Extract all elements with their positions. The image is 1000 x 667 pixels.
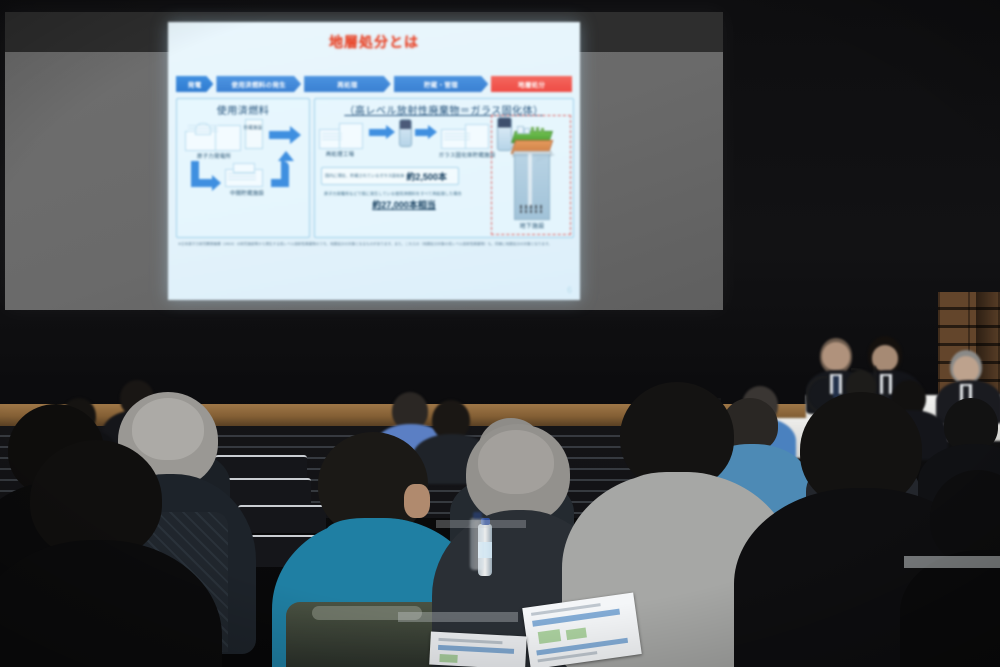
- quantity-note-1: 国内に現在、貯蔵されているガラス固化体: [325, 173, 404, 178]
- caption-interim-storage-facility: 中間貯蔵施設: [217, 189, 277, 197]
- slide-page-number: 6: [567, 285, 572, 295]
- quantity-box-current-stock: 国内に現在、貯蔵されているガラス固化体 約2,500本: [321, 167, 459, 185]
- process-step-power-generation: 発電: [176, 76, 213, 92]
- quantity-value-1: 約2,500本: [406, 170, 447, 183]
- arrow-head-mid2: [428, 125, 437, 139]
- arrow-down-left-foot: [191, 179, 213, 187]
- process-step-reprocessing: 再処理: [304, 76, 391, 92]
- audience-desk: [904, 556, 1000, 568]
- arrow-head-top: [290, 126, 301, 144]
- reprocessing-plant-illustration: [319, 121, 363, 149]
- arrow-head-up-right: [278, 151, 294, 161]
- audience-desk: [398, 612, 518, 622]
- slide-footnote: ※日本原子力研究開発機構（JAEA）の研究施設等から発生する低レベル放射性廃棄物…: [178, 242, 570, 247]
- bottle-cap: [473, 512, 482, 519]
- vitrified-waste-storage-facility-illustration: [441, 121, 489, 149]
- arrow-right-mid2: [415, 129, 429, 136]
- process-step-storage-management: 貯蔵・管理: [394, 76, 489, 92]
- caption-underground-facility: 地下施設: [501, 221, 563, 230]
- left-panel-heading: 使用済燃料: [177, 102, 309, 117]
- vitrified-waste-canister-1: [399, 119, 412, 147]
- arrow-right-top: [269, 131, 291, 139]
- slide-left-panel: 使用済燃料 原子力発電所 貯蔵施設: [176, 98, 310, 238]
- handout-paper: [429, 632, 527, 667]
- interim-storage-facility-illustration: [225, 161, 267, 187]
- quantity-note-2: 原子力発電所などで既に発生している使用済燃料をすべて再処理した場合: [324, 191, 462, 196]
- caption-reprocessing-plant: 再処理工場: [309, 150, 371, 158]
- underground-facility-illustration: [511, 125, 551, 221]
- process-step-spent-fuel: 使用済燃料の発生: [216, 76, 301, 92]
- caption-storage-facility: 貯蔵施設: [239, 125, 267, 131]
- slide-right-panel: （高レベル放射性廃棄物＝ガラス固化体） 再処理工場 ガラス固化: [314, 98, 574, 238]
- presentation-hall-photo: 地層処分とは 発電 使用済燃料の発生 再処理 貯蔵・管理 地層処分 使用済燃料 …: [0, 0, 1000, 667]
- arrow-up-right-foot: [271, 179, 289, 187]
- slide-title: 地層処分とは: [168, 32, 580, 52]
- arrow-right-mid: [369, 129, 387, 136]
- process-flow-bar: 発電 使用済燃料の発生 再処理 貯蔵・管理 地層処分: [176, 76, 572, 92]
- quantity-value-2: 約27,000本相当: [372, 198, 436, 211]
- caption-nuclear-power-plant: 原子力発電所: [179, 152, 249, 160]
- audience-desk: [436, 520, 526, 528]
- empty-chair: [238, 505, 326, 533]
- arrow-head-mid: [386, 125, 395, 139]
- projected-slide: 地層処分とは 発電 使用済燃料の発生 再処理 貯蔵・管理 地層処分 使用済燃料 …: [168, 22, 580, 300]
- quantity-box-total-equivalent: 原子力発電所などで既に発生している使用済燃料をすべて再処理した場合 約27,00…: [321, 189, 487, 213]
- nuclear-power-plant-illustration: [185, 121, 241, 151]
- process-step-geological-disposal: 地層処分: [491, 76, 572, 92]
- storage-facility-box: [245, 119, 263, 149]
